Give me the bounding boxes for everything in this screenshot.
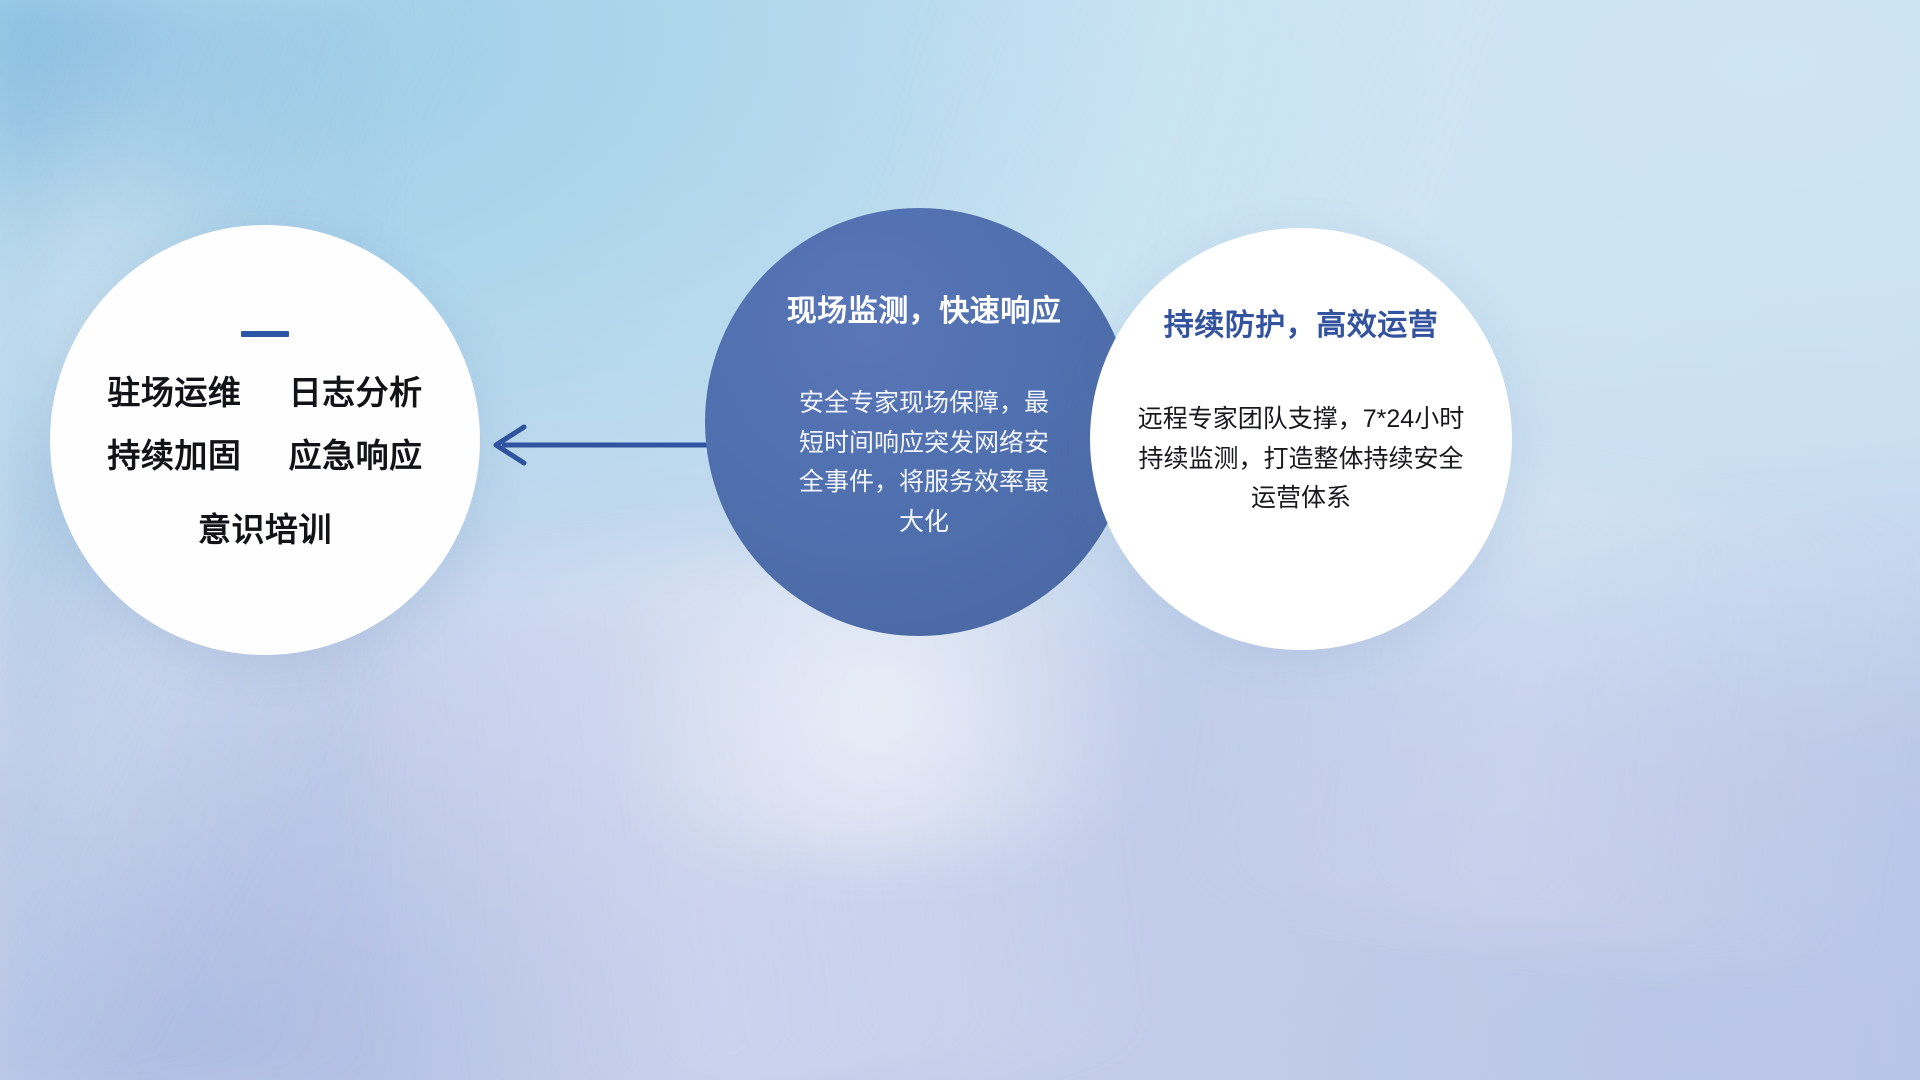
arrow-left-icon — [480, 400, 740, 490]
middle-circle-title: 现场监测，快速响应 — [787, 286, 1062, 330]
capability-label: 意识培训 — [198, 511, 332, 548]
right-circle-content: 持续防护，高效运营 远程专家团队支撑，7*24小时持续监测，打造整体持续安全运营… — [1090, 228, 1512, 650]
capability-label: 驻场运维 — [107, 374, 241, 411]
right-circle-title: 持续防护，高效运营 — [1164, 300, 1439, 344]
middle-circle-body: 安全专家现场保障，最短时间响应突发网络安全事件，将服务效率最大化 — [794, 384, 1054, 542]
three-circle-diagram: 驻场运维 日志分析 持续加固 应急响应 意识培训 现场监测，快速响应 安全专家现… — [0, 0, 1920, 1080]
capability-row: 驻场运维 日志分析 — [107, 375, 422, 412]
right-circle-body: 远程专家团队支撑，7*24小时持续监测，打造整体持续安全运营体系 — [1136, 400, 1466, 519]
divider-dash-icon — [241, 331, 289, 337]
capability-label: 应急响应 — [289, 437, 423, 474]
middle-circle-content: 现场监测，快速响应 安全专家现场保障，最短时间响应突发网络安全事件，将服务效率最… — [705, 208, 1133, 636]
left-circle-content: 驻场运维 日志分析 持续加固 应急响应 意识培训 — [50, 225, 480, 655]
onsite-monitoring-circle[interactable]: 现场监测，快速响应 安全专家现场保障，最短时间响应突发网络安全事件，将服务效率最… — [705, 208, 1133, 636]
capability-label: 日志分析 — [289, 374, 423, 411]
left-capability-circle[interactable]: 驻场运维 日志分析 持续加固 应急响应 意识培训 — [50, 225, 480, 655]
capability-row: 持续加固 应急响应 — [107, 438, 422, 475]
continuous-protection-circle[interactable]: 持续防护，高效运营 远程专家团队支撑，7*24小时持续监测，打造整体持续安全运营… — [1090, 228, 1512, 650]
capability-label: 持续加固 — [107, 437, 241, 474]
capability-row: 意识培训 — [198, 512, 332, 549]
